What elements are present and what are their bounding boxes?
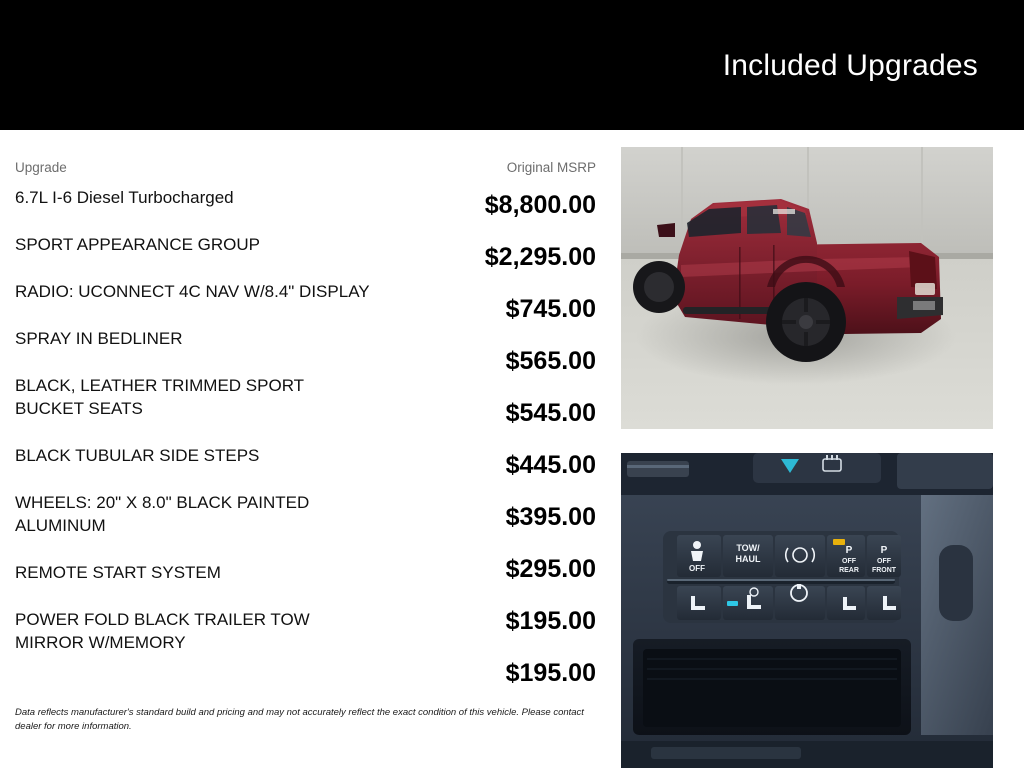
vehicle-interior-photo: OFF TOW/ HAUL P OFF REAR P OFF FRONT: [621, 453, 993, 768]
column-header-msrp: Original MSRP: [507, 160, 596, 175]
table-row: WHEELS: 20" X 8.0" BLACK PAINTED ALUMINU…: [15, 491, 375, 537]
svg-text:P: P: [881, 545, 888, 556]
svg-text:TOW/: TOW/: [736, 543, 760, 553]
upgrade-label-column: 6.7L I-6 Diesel Turbocharged SPORT APPEA…: [15, 186, 375, 654]
svg-text:FRONT: FRONT: [872, 567, 897, 574]
msrp-price-column: $8,800.00 $2,295.00 $745.00 $565.00 $545…: [330, 192, 596, 692]
price-value: $565.00: [330, 348, 596, 374]
price-value: $545.00: [330, 400, 596, 426]
svg-text:OFF: OFF: [842, 558, 857, 565]
table-row: SPRAY IN BEDLINER: [15, 327, 375, 350]
table-row: RADIO: UCONNECT 4C NAV W/8.4" DISPLAY: [15, 280, 375, 303]
price-value: $295.00: [330, 556, 596, 582]
table-row: SPORT APPEARANCE GROUP: [15, 233, 375, 256]
price-value: $195.00: [330, 660, 596, 686]
svg-text:OFF: OFF: [689, 564, 705, 573]
center-console-illustration: OFF TOW/ HAUL P OFF REAR P OFF FRONT: [621, 453, 993, 768]
table-row: REMOTE START SYSTEM: [15, 561, 375, 584]
table-row: BLACK TUBULAR SIDE STEPS: [15, 444, 375, 467]
upgrades-table-section: Upgrade Original MSRP 6.7L I-6 Diesel Tu…: [0, 130, 620, 768]
price-value: $2,295.00: [330, 244, 596, 270]
price-value: $395.00: [330, 504, 596, 530]
table-row: BLACK, LEATHER TRIMMED SPORT BUCKET SEAT…: [15, 374, 375, 420]
page-title: Included Upgrades: [723, 49, 978, 83]
price-value: $745.00: [330, 296, 596, 322]
svg-text:HAUL: HAUL: [736, 554, 761, 564]
column-header-upgrade: Upgrade: [15, 160, 67, 175]
svg-text:OFF: OFF: [877, 558, 892, 565]
disclaimer-text: Data reflects manufacturer's standard bu…: [15, 706, 603, 733]
price-value: $445.00: [330, 452, 596, 478]
table-column-headers: Upgrade Original MSRP: [0, 160, 620, 180]
svg-text:P: P: [846, 545, 853, 556]
vehicle-exterior-photo: [621, 147, 993, 429]
price-value: $8,800.00: [330, 192, 596, 218]
price-value: $195.00: [330, 608, 596, 634]
svg-text:REAR: REAR: [839, 567, 859, 574]
table-row: 6.7L I-6 Diesel Turbocharged: [15, 186, 375, 209]
truck-illustration: [621, 147, 993, 429]
page-header-bar: Included Upgrades: [0, 0, 1024, 130]
table-row: POWER FOLD BLACK TRAILER TOW MIRROR W/ME…: [15, 608, 375, 654]
